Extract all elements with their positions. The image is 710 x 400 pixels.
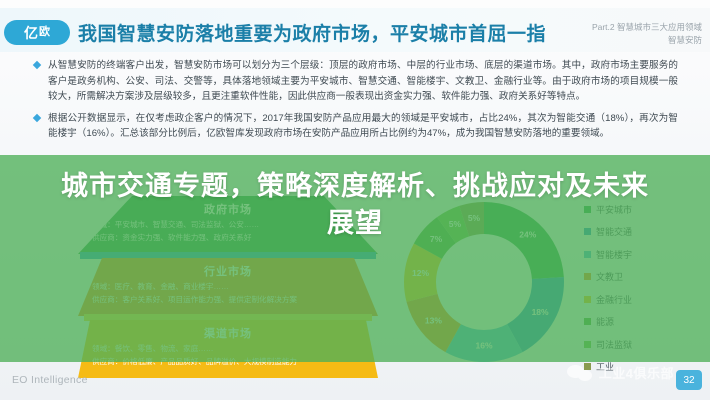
legend-swatch-icon: [584, 341, 591, 348]
pyramid-divider-yellow: [84, 314, 372, 321]
pyramid-tier-title: 渠道市场: [78, 320, 378, 341]
legend-label: 司法监狱: [596, 338, 632, 351]
legend-label: 智能楼宇: [596, 248, 632, 261]
donut-slice-label: 12%: [412, 268, 429, 278]
eo-logo: 亿 欧: [4, 20, 70, 45]
donut-slice-label: 18%: [532, 307, 549, 317]
pyramid-tier-title: 行业市场: [78, 258, 378, 279]
pyramid-tier-line1: 领域：医疗、教育、金融、商业楼宇……: [78, 279, 378, 292]
legend-swatch-icon: [584, 273, 591, 280]
legend-swatch-icon: [584, 251, 591, 258]
wechat-watermark-text: 工业4俱乐部: [599, 363, 674, 382]
page-title: 我国智慧安防落地重要为政府市场，平安城市首屈一指: [78, 19, 546, 46]
wechat-icon: [567, 364, 595, 382]
header-section-line1: Part.2 智慧城市三大应用领域: [592, 21, 702, 34]
diamond-bullet-icon: [33, 61, 41, 69]
legend-label: 金融行业: [596, 293, 632, 306]
legend-item[interactable]: 金融行业: [584, 288, 702, 311]
header-section-label: Part.2 智慧城市三大应用领域 智慧安防: [592, 21, 702, 47]
legend-swatch-icon: [584, 318, 591, 325]
donut-slice-label: 13%: [425, 315, 442, 325]
slide-screenshot: 亿 欧 我国智慧安防落地重要为政府市场，平安城市首屈一指 Part.2 智慧城市…: [0, 0, 710, 400]
overlay-title: 城市交通专题，策略深度解析、挑战应对及未来展望: [52, 168, 658, 243]
legend-swatch-icon: [584, 296, 591, 303]
bullet-text: 从智慧安防的终端客户出发，智慧安防市场可以划分为三个层级：顶层的政府市场、中层的…: [48, 58, 678, 105]
logo-mark-icon: 亿: [24, 26, 37, 40]
legend-label: 能源: [596, 315, 614, 328]
diamond-bullet-icon: [33, 113, 41, 121]
pyramid-tier-line1: 领域：餐饮、零售、物流、家庭……: [78, 341, 378, 354]
pyramid-tier-line2: 供应商：客户关系好、项目运作能力强、提供定制化解决方案: [78, 292, 378, 305]
bullet-item: 根据公开数据显示，在仅考虑政企客户的情况下，2017年我国安防产品应用最大的领域…: [34, 111, 678, 142]
pyramid-tier-line2: 供应商：价格低廉、产品品质好、品牌溢价、大规模制造能力: [78, 354, 378, 367]
legend-item[interactable]: 能源: [584, 311, 702, 334]
donut-slice-label: 16%: [475, 340, 492, 350]
pyramid-tier-industry: 行业市场 领域：医疗、教育、金融、商业楼宇…… 供应商：客户关系好、项目运作能力…: [78, 258, 378, 316]
legend-label: 文教卫: [596, 270, 623, 283]
logo-text: 欧: [39, 27, 50, 38]
legend-item[interactable]: 智能楼宇: [584, 243, 702, 266]
footer-brand: EO Intelligence: [12, 374, 88, 386]
pyramid-tier-channel: 渠道市场 领域：餐饮、零售、物流、家庭…… 供应商：价格低廉、产品品质好、品牌溢…: [78, 320, 378, 378]
bullet-item: 从智慧安防的终端客户出发，智慧安防市场可以划分为三个层级：顶层的政府市场、中层的…: [34, 58, 678, 105]
legend-item[interactable]: 司法监狱: [584, 333, 702, 356]
header-section-line2: 智慧安防: [592, 34, 702, 47]
page-number-badge: 32: [676, 370, 702, 390]
bullet-list: 从智慧安防的终端客户出发，智慧安防市场可以划分为三个层级：顶层的政府市场、中层的…: [34, 58, 678, 148]
bullet-text: 根据公开数据显示，在仅考虑政企客户的情况下，2017年我国安防产品应用最大的领域…: [48, 111, 678, 142]
legend-item[interactable]: 文教卫: [584, 266, 702, 289]
wechat-watermark: 工业4俱乐部: [567, 363, 674, 382]
pyramid-divider-blue: [80, 252, 376, 259]
